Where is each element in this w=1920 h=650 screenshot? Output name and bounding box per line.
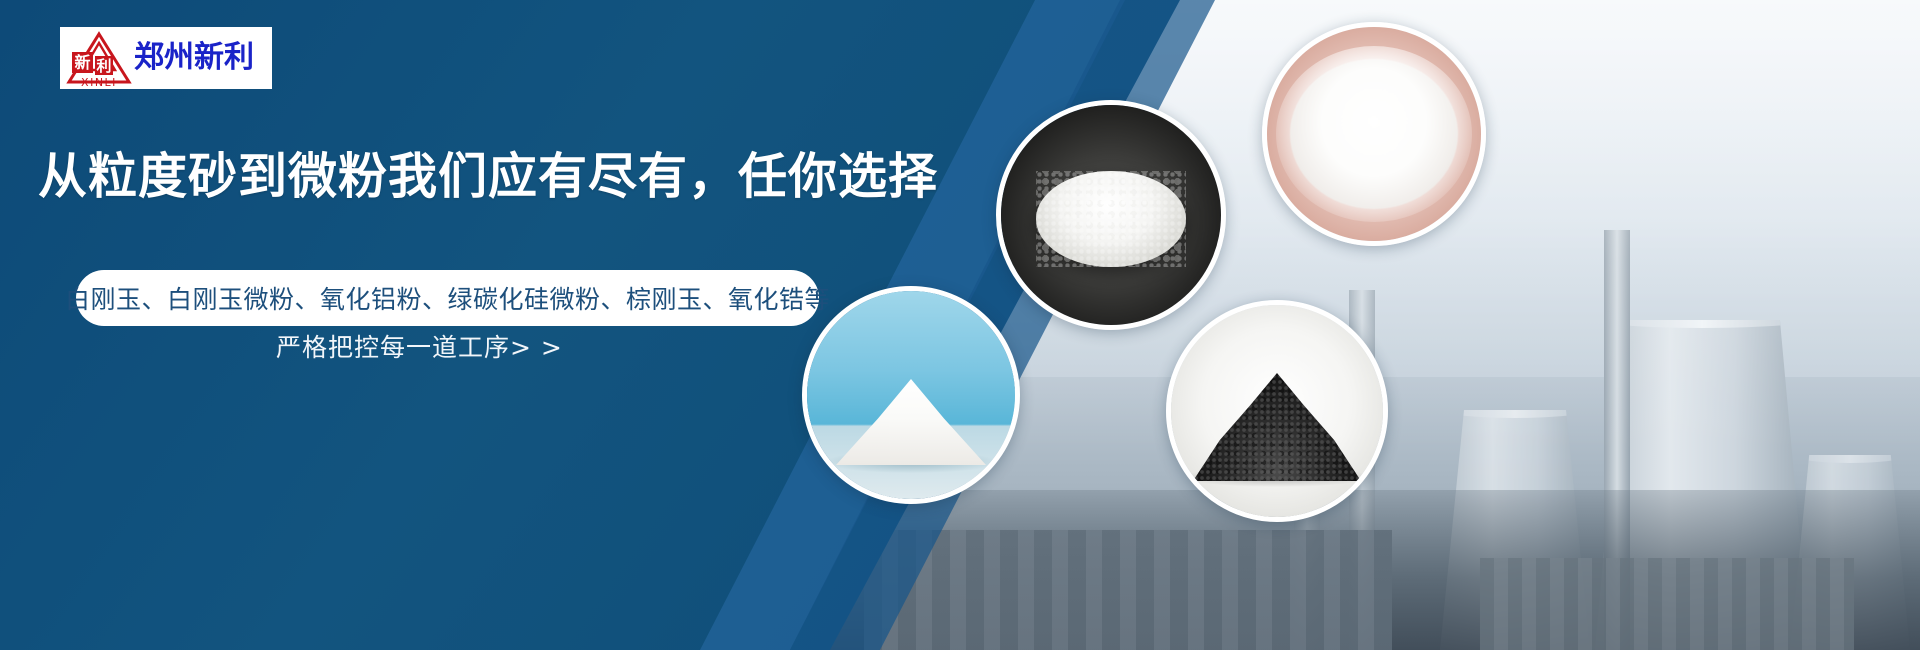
product-photo-white-alumina-micropowder xyxy=(1262,22,1486,246)
svg-text:XINLI: XINLI xyxy=(81,76,117,86)
svg-text:新: 新 xyxy=(74,53,90,72)
material-pile xyxy=(836,379,986,465)
xinli-triangle-icon: 新 利 XINLI xyxy=(66,30,132,86)
product-photo-black-silicon-carbide xyxy=(1166,300,1388,522)
photo-dish-background xyxy=(1001,105,1221,325)
company-name: 郑州新利 xyxy=(134,43,254,73)
product-photo-white-fused-alumina-grain xyxy=(996,100,1226,330)
headline: 从粒度砂到微粉我们应有尽有，任你选择 xyxy=(38,148,938,207)
material-pile xyxy=(1290,59,1458,209)
product-list-text: 白刚玉、白刚玉微粉、氧化铝粉、绿碳化硅微粉、棕刚玉、氧化锆等 xyxy=(65,280,830,316)
grain-texture xyxy=(1193,373,1361,481)
photo-dish-background xyxy=(1267,27,1481,241)
svg-text:利: 利 xyxy=(96,57,111,75)
promo-banner: 新 利 XINLI 郑州新利 从粒度砂到微粉我们应有尽有，任你选择 白刚玉、白刚… xyxy=(0,0,1920,650)
company-logo[interactable]: 新 利 XINLI 郑州新利 xyxy=(60,27,272,89)
material-pile xyxy=(1036,171,1186,267)
product-photo-alumina-powder-cone xyxy=(802,286,1020,504)
photo-dish-background xyxy=(1171,305,1383,517)
photo-dish-background xyxy=(807,291,1015,499)
grain-texture xyxy=(1036,171,1186,267)
product-list-pill: 白刚玉、白刚玉微粉、氧化铝粉、绿碳化硅微粉、棕刚玉、氧化锆等 xyxy=(76,270,819,326)
tagline-link[interactable]: 严格把控每一道工序> > xyxy=(276,328,563,364)
material-pile xyxy=(1193,373,1361,481)
